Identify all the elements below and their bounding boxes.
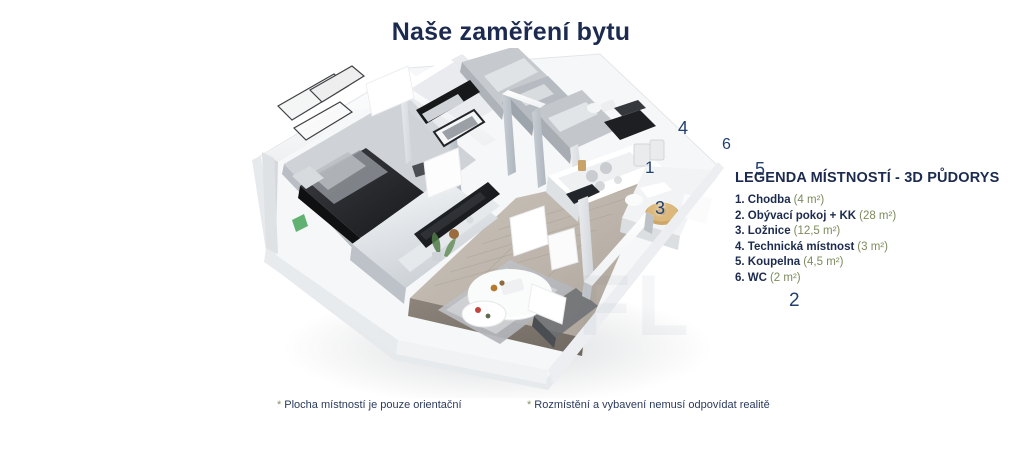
legend-item-5-label: 5. Koupelna (735, 256, 800, 268)
room-marker-1: 1 (645, 159, 654, 176)
legend: LEGENDA MÍSTNOSTÍ - 3D PŮDORYS 1. Chodba… (735, 170, 1015, 286)
room-marker-4: 4 (678, 119, 688, 137)
legend-item-3: 3. Ložnice(12,5 m²) (735, 224, 1015, 240)
legend-item-3-area: (12,5 m²) (794, 225, 841, 237)
page-title-text: Naše zaměření bytu (392, 18, 630, 47)
footnote-area-disclaimer: *Plocha místností je pouze orientační (277, 399, 462, 411)
legend-item-4: 4. Technická místnost(3 m²) (735, 240, 1015, 256)
legend-title: LEGENDA MÍSTNOSTÍ - 3D PŮDORYS (735, 170, 1015, 186)
legend-item-2: 2. Obývací pokoj + KK(28 m²) (735, 209, 1015, 225)
legend-item-1-area: (4 m²) (794, 194, 825, 206)
legend-item-5: 5. Koupelna(4,5 m²) (735, 255, 1015, 271)
legend-item-6-area: (2 m²) (770, 272, 801, 284)
page-title: Naše zaměření bytu (0, 18, 1024, 47)
legend-item-2-label: 2. Obývací pokoj + KK (735, 210, 856, 222)
legend-item-1: 1. Chodba(4 m²) (735, 193, 1015, 209)
footnote-1-text: Plocha místností je pouze orientační (284, 399, 461, 411)
footnote-2-text: Rozmístění a vybavení nemusí odpovídat r… (534, 399, 769, 411)
legend-item-6-label: 6. WC (735, 272, 767, 284)
legend-item-4-area: (3 m²) (857, 241, 888, 253)
footnote-1-star: * (277, 399, 281, 411)
room-marker-6: 6 (722, 137, 731, 153)
footnote-2-star: * (527, 399, 531, 411)
legend-item-3-label: 3. Ložnice (735, 225, 791, 237)
legend-item-2-area: (28 m²) (859, 210, 896, 222)
legend-item-5-area: (4,5 m²) (803, 256, 843, 268)
room-marker-3: 3 (655, 199, 665, 217)
legend-item-1-label: 1. Chodba (735, 194, 791, 206)
footnote-furniture-disclaimer: *Rozmístění a vybavení nemusí odpovídat … (527, 399, 770, 411)
legend-item-4-label: 4. Technická místnost (735, 241, 854, 253)
room-marker-2: 2 (789, 291, 800, 310)
floorplan-3d-illustration: FL 1 2 3 4 5 6 (248, 48, 728, 398)
legend-item-6: 6. WC(2 m²) (735, 271, 1015, 287)
floorplan-svg (248, 48, 728, 398)
